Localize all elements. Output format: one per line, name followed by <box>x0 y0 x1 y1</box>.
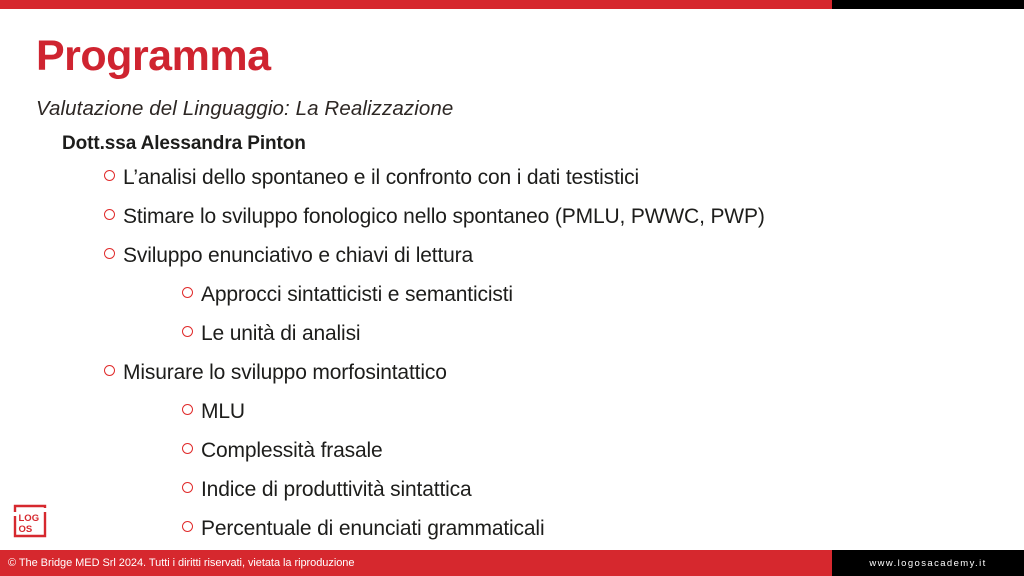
top-bar-red-segment <box>0 0 832 9</box>
logos-logo: LOG OS <box>12 503 48 539</box>
agenda-item-label: Misurare lo sviluppo morfosintattico <box>123 362 447 383</box>
agenda-item-label: L’analisi dello spontaneo e il confronto… <box>123 167 639 188</box>
agenda-item: Le unità di analisi <box>0 323 1024 362</box>
footer-copyright-section: © The Bridge MED Srl 2024. Tutti i dirit… <box>0 550 832 576</box>
agenda-item: Complessità frasale <box>0 440 1024 479</box>
agenda-item-label: Complessità frasale <box>201 440 383 461</box>
agenda-item-label: Sviluppo enunciativo e chiavi di lettura <box>123 245 473 266</box>
page-subtitle: Valutazione del Linguaggio: La Realizzaz… <box>36 97 453 121</box>
logo-text-line2: OS <box>19 524 33 535</box>
agenda-item-label: Le unità di analisi <box>201 323 360 344</box>
circle-bullet-icon <box>182 443 193 454</box>
presenter-name: Dott.ssa Alessandra Pinton <box>62 133 306 155</box>
circle-bullet-icon <box>182 326 193 337</box>
circle-bullet-icon <box>182 287 193 298</box>
agenda-item: Approcci sintatticisti e semanticisti <box>0 284 1024 323</box>
footer-website-text: www.logosacademy.it <box>869 558 986 569</box>
page-title: Programma <box>36 33 270 80</box>
slide-root: Programma Valutazione del Linguaggio: La… <box>0 0 1024 576</box>
circle-bullet-icon <box>182 404 193 415</box>
top-bar-black-segment <box>832 0 1024 9</box>
agenda-item-label: MLU <box>201 401 245 422</box>
circle-bullet-icon <box>104 209 115 220</box>
footer-copyright-text: © The Bridge MED Srl 2024. Tutti i dirit… <box>8 557 354 569</box>
agenda-item-label: Approcci sintatticisti e semanticisti <box>201 284 513 305</box>
circle-bullet-icon <box>182 482 193 493</box>
agenda-list: L’analisi dello spontaneo e il confronto… <box>0 167 1024 557</box>
agenda-item: MLU <box>0 401 1024 440</box>
footer-website-section: www.logosacademy.it <box>832 550 1024 576</box>
circle-bullet-icon <box>104 170 115 181</box>
circle-bullet-icon <box>104 248 115 259</box>
circle-bullet-icon <box>182 521 193 532</box>
agenda-item: Stimare lo sviluppo fonologico nello spo… <box>0 206 1024 245</box>
agenda-item: Misurare lo sviluppo morfosintattico <box>0 362 1024 401</box>
circle-bullet-icon <box>104 365 115 376</box>
agenda-item: Indice di produttività sintattica <box>0 479 1024 518</box>
agenda-item-label: Indice di produttività sintattica <box>201 479 472 500</box>
footer-bar: © The Bridge MED Srl 2024. Tutti i dirit… <box>0 550 1024 576</box>
agenda-item: Sviluppo enunciativo e chiavi di lettura <box>0 245 1024 284</box>
agenda-item-label: Percentuale di enunciati grammaticali <box>201 518 544 539</box>
logo-text-line1: LOG <box>19 513 40 524</box>
top-accent-bar <box>0 0 1024 9</box>
agenda-item-label: Stimare lo sviluppo fonologico nello spo… <box>123 206 765 227</box>
agenda-item: L’analisi dello spontaneo e il confronto… <box>0 167 1024 206</box>
